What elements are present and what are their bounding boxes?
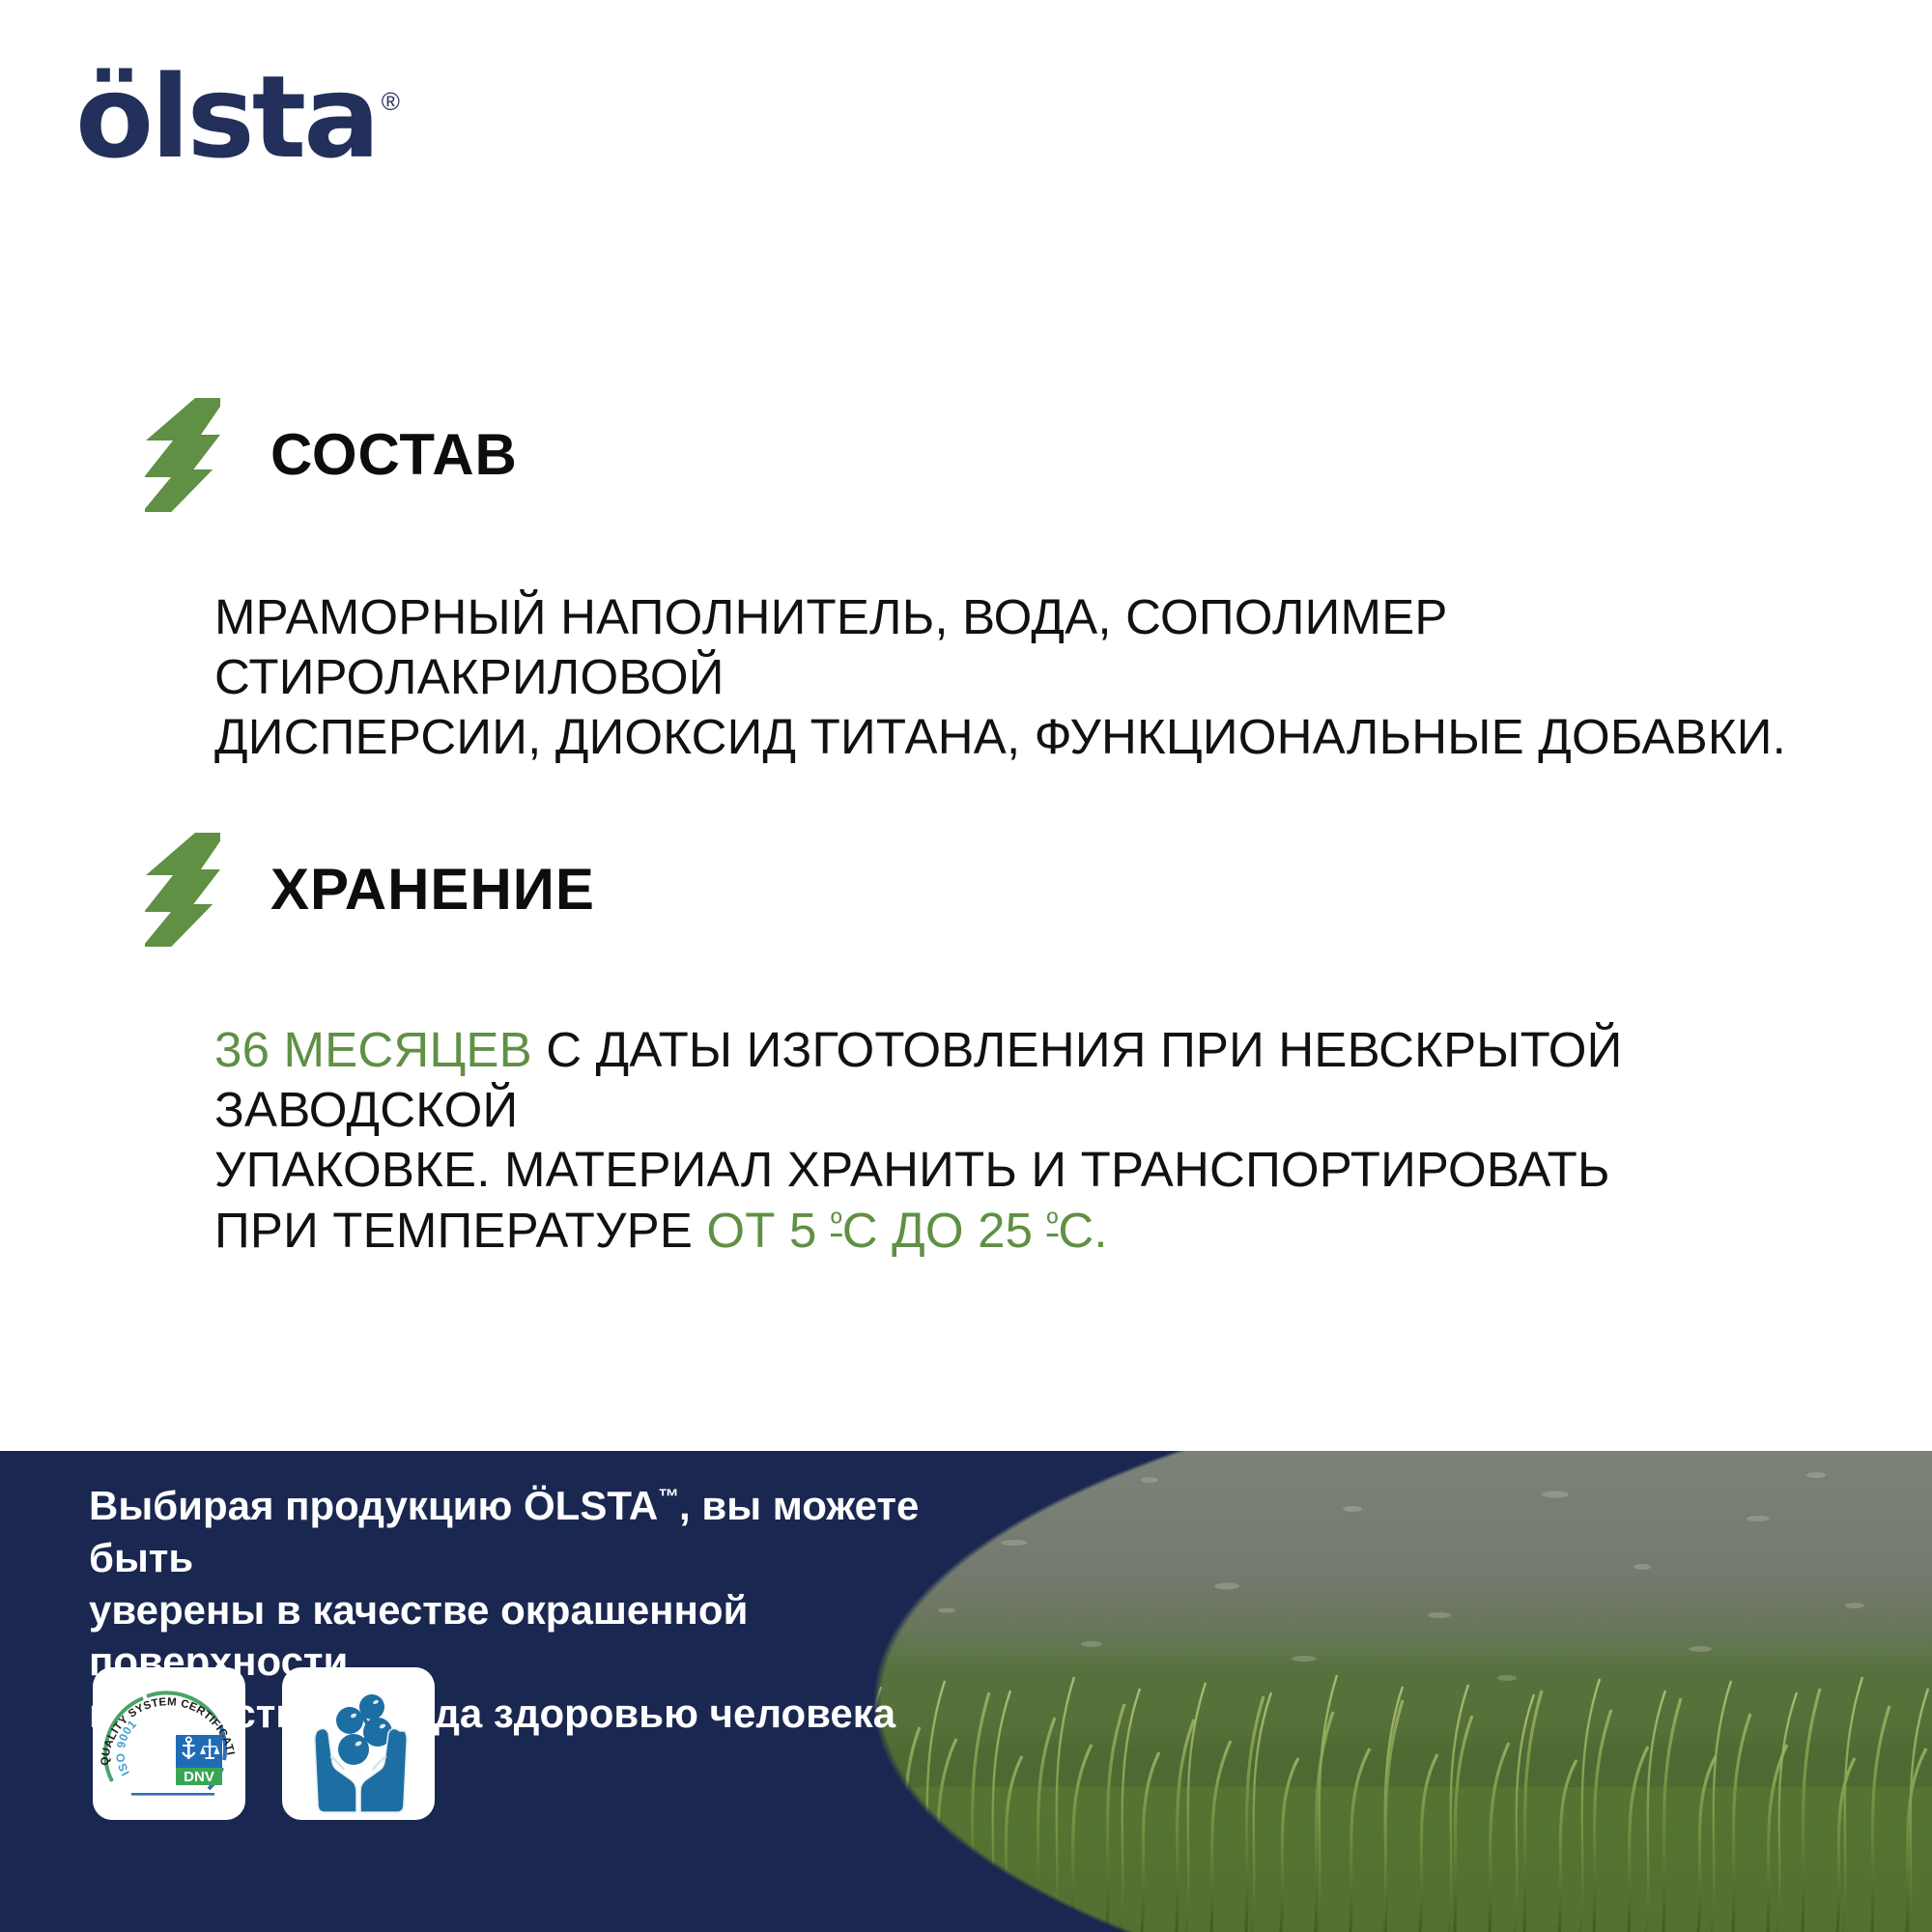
banner-message-line-1: Выбирая продукцию ÖLSTA™, вы можете быть [89,1480,978,1584]
storage-line-1: 36 МЕСЯЦЕВ С ДАТЫ ИЗГОТОВЛЕНИЯ ПРИ НЕВСК… [214,1020,1845,1140]
section-composition: СОСТАВ МРАМОРНЫЙ НАПОЛНИТЕЛЬ, ВОДА, СОПО… [0,398,1932,768]
dnv-mark-text: DNV [184,1769,214,1785]
dnv-iso-9001-graphic: QUALITY SYSTEM CERTIFICATION ISO 9001 [93,1667,245,1820]
brand-logo: ölsta ® [75,60,400,174]
composition-line-1: МРАМОРНЫЙ НАПОЛНИТЕЛЬ, ВОДА, СОПОЛИМЕР С… [214,587,1845,707]
composition-line-2: ДИСПЕРСИИ, ДИОКСИД ТИТАНА, ФУНКЦИОНАЛЬНЫ… [214,707,1845,767]
trademark-icon: ™ [658,1485,679,1509]
temp-from-value: ОТ 5 [706,1203,831,1258]
storage-temperature-prefix: ПРИ ТЕМПЕРАТУРЕ [214,1203,706,1258]
temp-to-unit: С. [1058,1203,1107,1258]
registered-trademark-icon: ® [382,89,400,114]
storage-temperature-range: ОТ 5 ºС ДО 25 ºС. [706,1203,1107,1258]
lightning-bolt-icon [145,398,220,512]
banner-line-1-before: Выбирая продукцию ÖLSTA [89,1483,658,1528]
dnv-iso-9001-badge: QUALITY SYSTEM CERTIFICATION ISO 9001 [93,1667,245,1820]
section-composition-body: МРАМОРНЫЙ НАПОЛНИТЕЛЬ, ВОДА, СОПОЛИМЕР С… [0,587,1932,768]
section-storage-title: ХРАНЕНИЕ [270,861,595,919]
section-storage-body: 36 МЕСЯЦЕВ С ДАТЫ ИЗГОТОВЛЕНИЯ ПРИ НЕВСК… [0,1020,1932,1261]
temp-from-unit: С [842,1203,878,1258]
storage-line-3: ПРИ ТЕМПЕРАТУРЕ ОТ 5 ºС ДО 25 ºС. [214,1201,1845,1261]
degree-symbol-icon: º [831,1205,842,1239]
storage-line-2: УПАКОВКЕ. МАТЕРИАЛ ХРАНИТЬ И ТРАНСПОРТИР… [214,1140,1845,1200]
degree-symbol-icon: º [1047,1205,1059,1239]
certification-badges: QUALITY SYSTEM CERTIFICATION ISO 9001 [93,1667,435,1820]
brand-logo-wordmark: ölsta [75,60,378,174]
temp-to-value: ДО 25 [878,1203,1047,1258]
storage-duration-highlight: 36 МЕСЯЦЕВ [214,1022,532,1077]
section-storage-header: ХРАНЕНИЕ [0,833,1932,947]
lightning-bolt-icon [145,833,220,947]
section-storage: ХРАНЕНИЕ 36 МЕСЯЦЕВ С ДАТЫ ИЗГОТОВЛЕНИЯ … [0,833,1932,1261]
bottom-banner: Выбирая продукцию ÖLSTA™, вы можете быть… [0,1451,1932,1932]
section-composition-title: СОСТАВ [270,426,518,484]
section-composition-header: СОСТАВ [0,398,1932,512]
safe-for-health-badge [282,1667,435,1820]
hands-holding-molecules-icon [282,1667,435,1820]
product-info-page: ölsta ® СОСТАВ МРАМОРНЫЙ НАПОЛНИТЕЛЬ, ВО… [0,0,1932,1932]
